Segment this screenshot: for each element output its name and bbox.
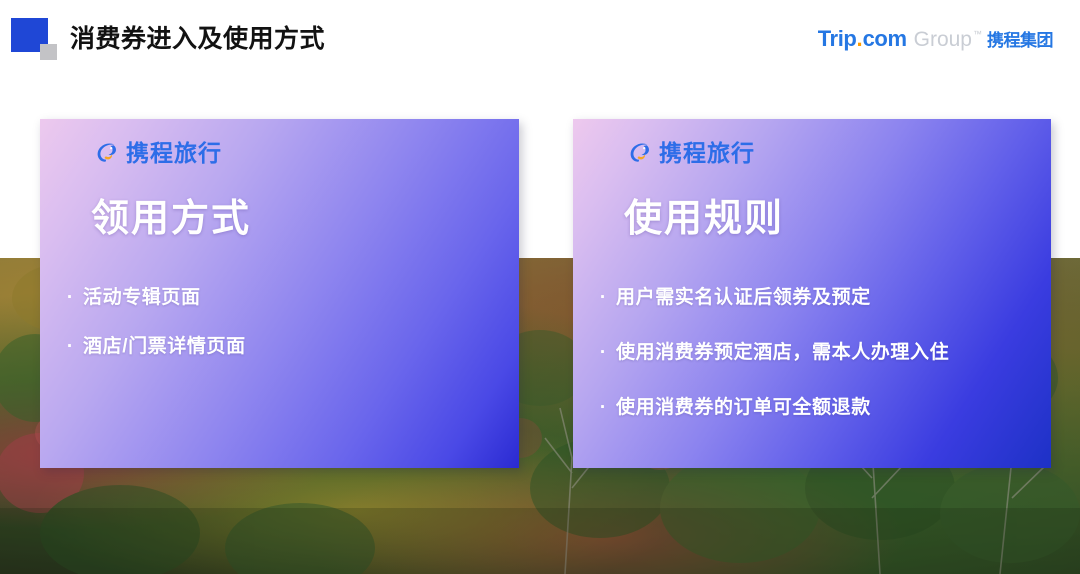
bullet-text: 活动专辑页面 xyxy=(83,285,201,311)
slide-canvas: 消费券进入及使用方式 Trip . com Group ™ 携程集团 携程旅行 … xyxy=(0,0,1080,574)
brand-chinese-text: 携程集团 xyxy=(987,26,1053,51)
card-title-right: 使用规则 xyxy=(624,195,784,243)
bullet-list-right: · 用户需实名认证后领券及预定 · 使用消费券预定酒店，需本人办理入住 · 使用… xyxy=(590,285,1041,450)
bullet-dot-icon: · xyxy=(590,395,616,421)
slide-header: 消费券进入及使用方式 Trip . com Group ™ 携程集团 xyxy=(0,0,1080,80)
bullet-dot-icon: · xyxy=(57,285,83,311)
card-title-left: 领用方式 xyxy=(91,195,251,243)
page-title: 消费券进入及使用方式 xyxy=(70,19,325,59)
ctrip-logo-text: 携程旅行 xyxy=(126,140,222,167)
list-item: · 活动专辑页面 xyxy=(57,285,509,311)
bullet-list-left: · 活动专辑页面 · 酒店/门票详情页面 xyxy=(57,285,509,383)
brand-group-text: Group xyxy=(914,28,972,52)
dolphin-icon xyxy=(93,140,120,167)
list-item: · 使用消费券的订单可全额退款 xyxy=(590,395,1041,421)
ctrip-logo-right: 携程旅行 xyxy=(626,138,755,168)
card-usage-rules: 携程旅行 使用规则 · 用户需实名认证后领券及预定 · 使用消费券预定酒店，需本… xyxy=(573,119,1051,468)
brand-trip-text: Trip xyxy=(818,26,857,52)
header-mark-icon xyxy=(11,18,57,60)
list-item: · 用户需实名认证后领券及预定 xyxy=(590,285,1041,311)
bullet-dot-icon: · xyxy=(590,340,616,366)
ctrip-logo-text: 携程旅行 xyxy=(659,140,755,167)
bullet-text: 使用消费券的订单可全额退款 xyxy=(616,395,871,421)
bullet-dot-icon: · xyxy=(590,285,616,311)
bullet-text: 用户需实名认证后领券及预定 xyxy=(616,285,871,311)
dolphin-icon xyxy=(626,140,653,167)
mark-gray-square xyxy=(40,44,57,60)
list-item: · 使用消费券预定酒店，需本人办理入住 xyxy=(590,340,1041,366)
bullet-text: 使用消费券预定酒店，需本人办理入住 xyxy=(616,340,949,366)
bullet-dot-icon: · xyxy=(57,334,83,360)
list-item: · 酒店/门票详情页面 xyxy=(57,334,509,360)
ctrip-logo-left: 携程旅行 xyxy=(93,138,222,168)
bullet-text: 酒店/门票详情页面 xyxy=(83,334,246,360)
brand-trademark-text: ™ xyxy=(973,29,982,39)
card-claim-method: 携程旅行 领用方式 · 活动专辑页面 · 酒店/门票详情页面 xyxy=(40,119,519,468)
trip-com-group-logo: Trip . com Group ™ 携程集团 xyxy=(818,26,1053,52)
brand-com-text: com xyxy=(863,26,907,52)
